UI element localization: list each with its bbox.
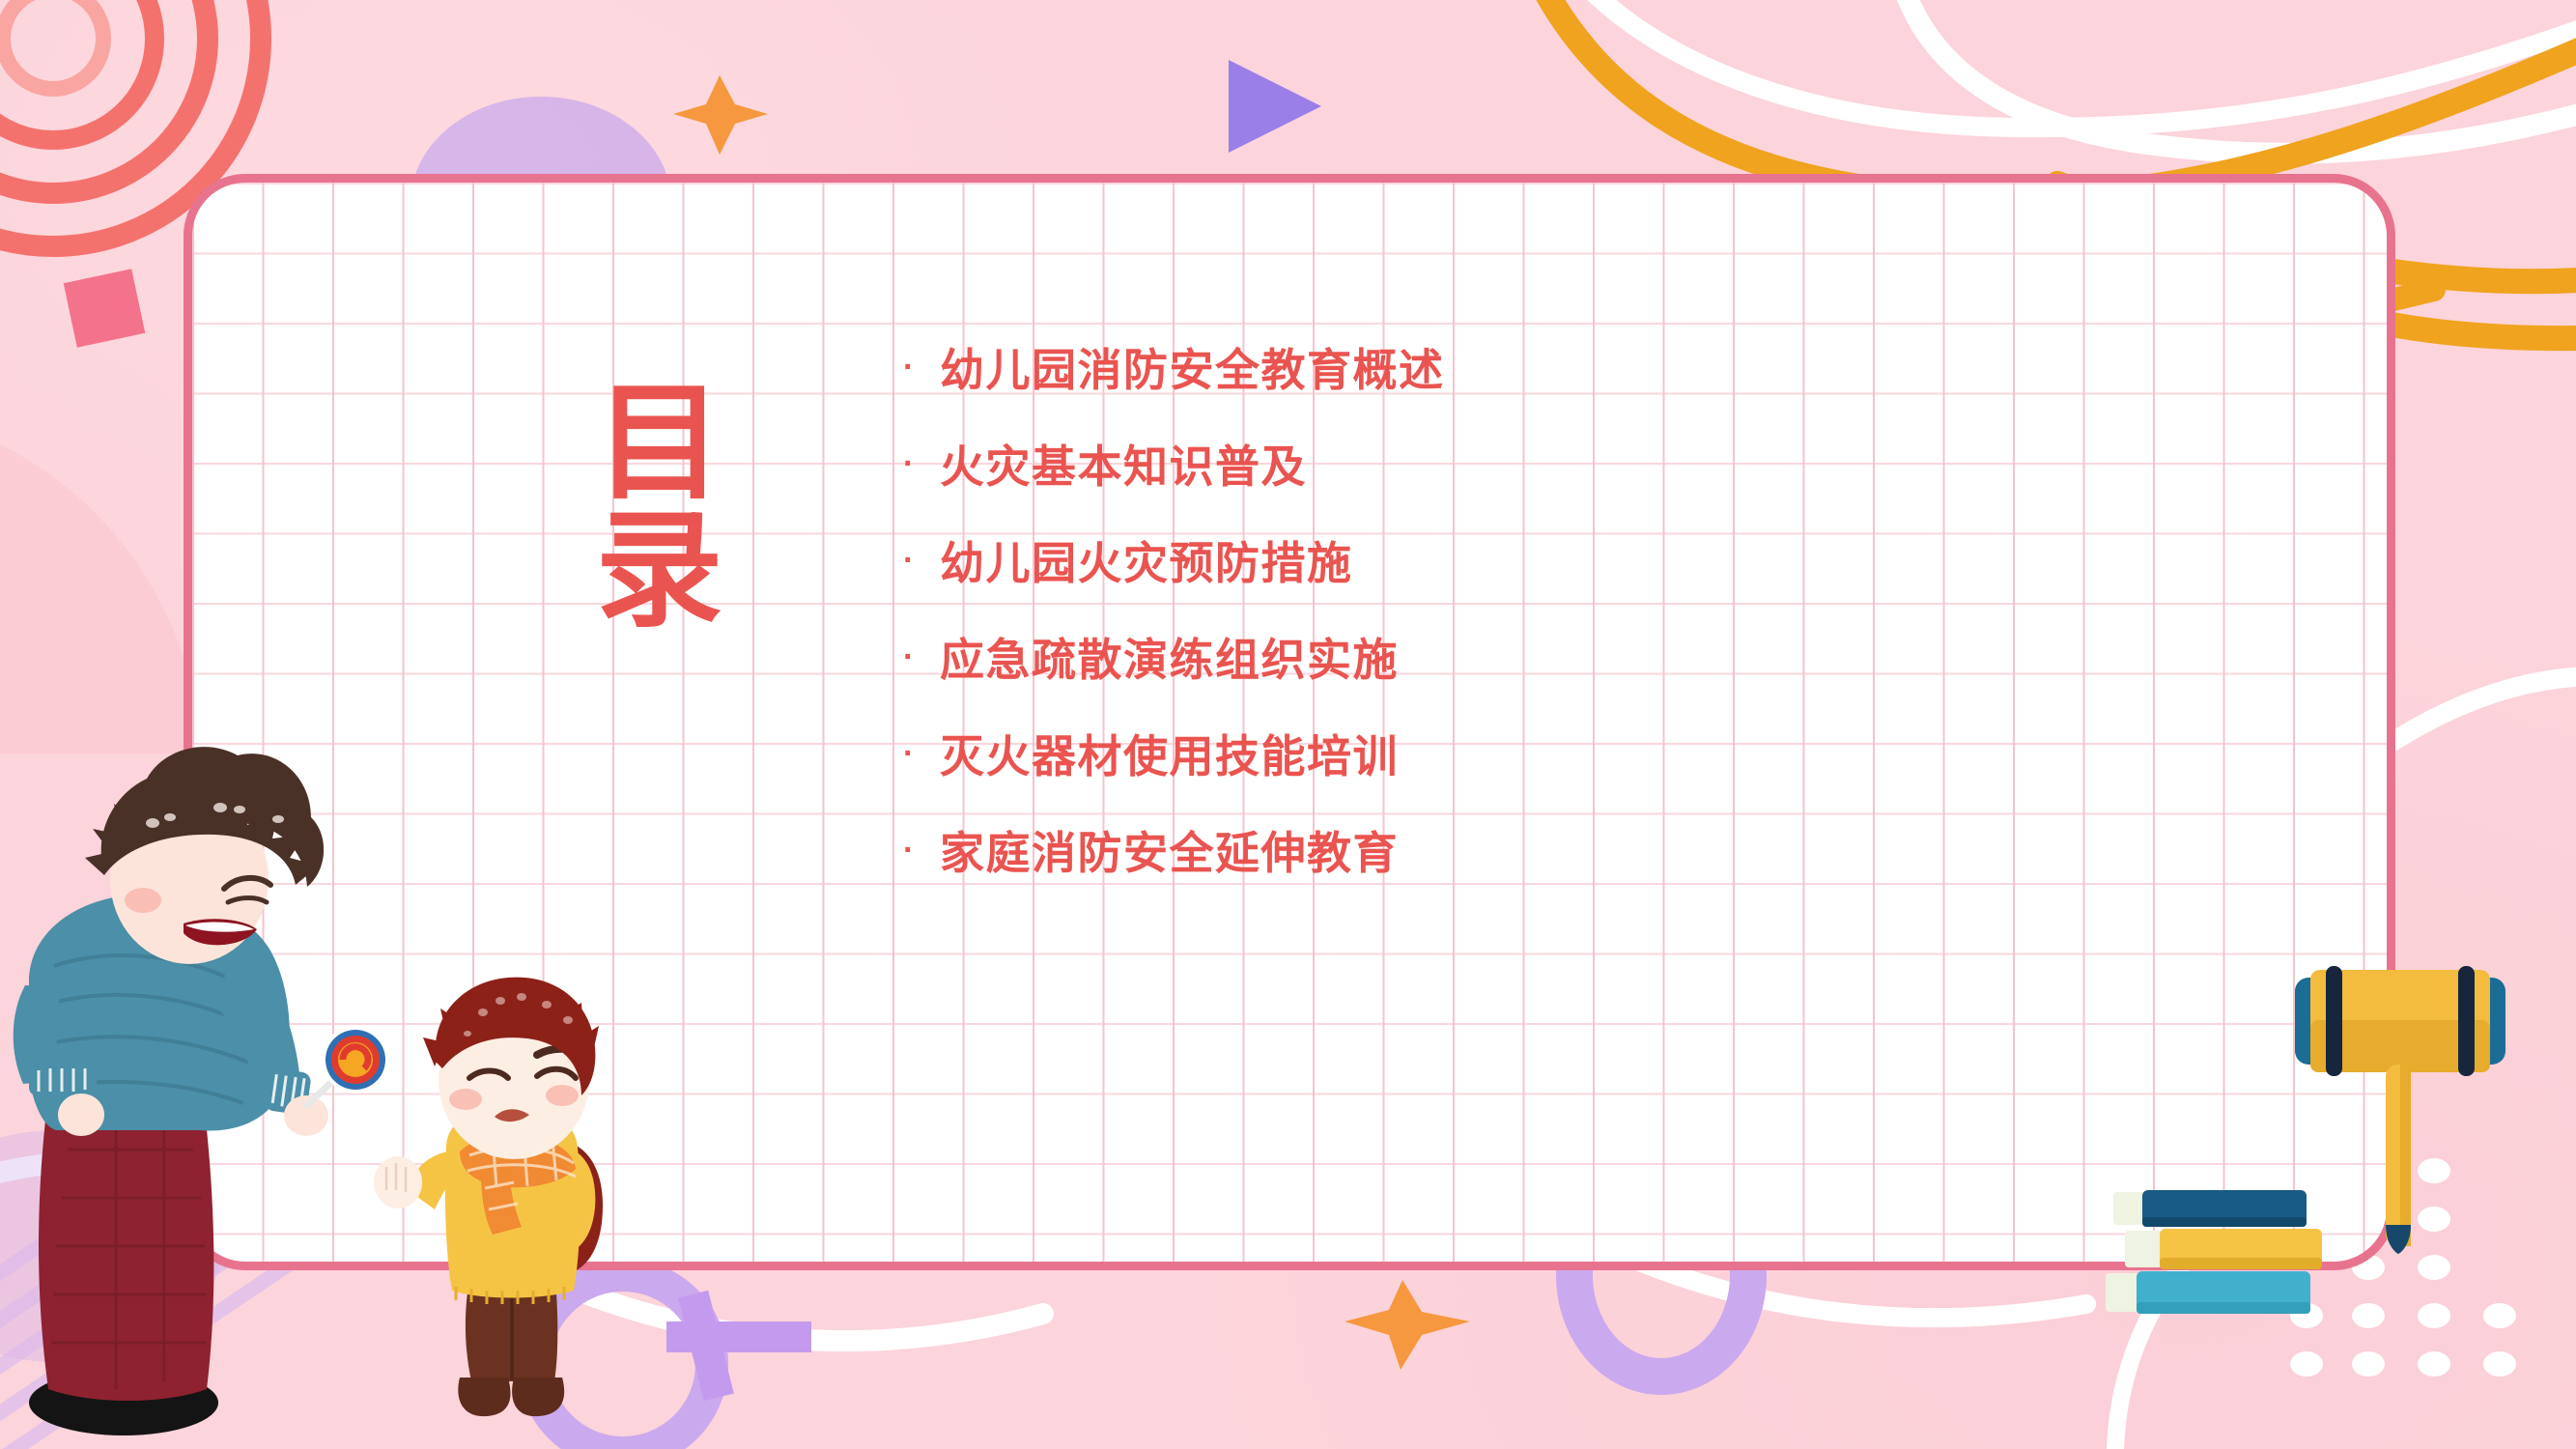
list-item-label: 灭火器材使用技能培训 [940, 722, 1399, 785]
list-item-label: 应急疏散演练组织实施 [940, 625, 1399, 689]
bullet-icon: · [903, 834, 940, 867]
child-refusing-candy-illustration [367, 937, 657, 1449]
adult-offering-lollipop-illustration [0, 744, 386, 1449]
bullet-icon: · [903, 351, 940, 384]
list-item[interactable]: · 灭火器材使用技能培训 [903, 705, 2159, 802]
bullet-icon: · [903, 544, 940, 577]
list-item[interactable]: · 火灾基本知识普及 [903, 415, 2159, 512]
list-item-label: 家庭消防安全延伸教育 [940, 818, 1399, 882]
bullet-icon: · [903, 737, 940, 770]
list-item[interactable]: · 家庭消防安全延伸教育 [903, 802, 2159, 898]
list-item-label: 幼儿园消防安全教育概述 [940, 335, 1445, 399]
list-item[interactable]: · 幼儿园消防安全教育概述 [903, 319, 2159, 415]
page-title: 目录 [555, 343, 710, 662]
bullet-icon: · [903, 447, 940, 480]
toc-list: · 幼儿园消防安全教育概述 · 火灾基本知识普及 · 幼儿园火灾预防措施 · 应… [903, 319, 2159, 898]
list-item[interactable]: · 幼儿园火灾预防措施 [903, 512, 2159, 609]
book-stack-illustration [2106, 1188, 2347, 1323]
slide-canvas: 目录 · 幼儿园消防安全教育概述 · 火灾基本知识普及 · 幼儿园火灾预防措施 … [0, 0, 2576, 1449]
list-item-label: 幼儿园火灾预防措施 [940, 528, 1353, 592]
bullet-icon: · [903, 640, 940, 673]
list-item-label: 火灾基本知识普及 [940, 432, 1307, 496]
list-item[interactable]: · 应急疏散演练组织实施 [903, 609, 2159, 705]
